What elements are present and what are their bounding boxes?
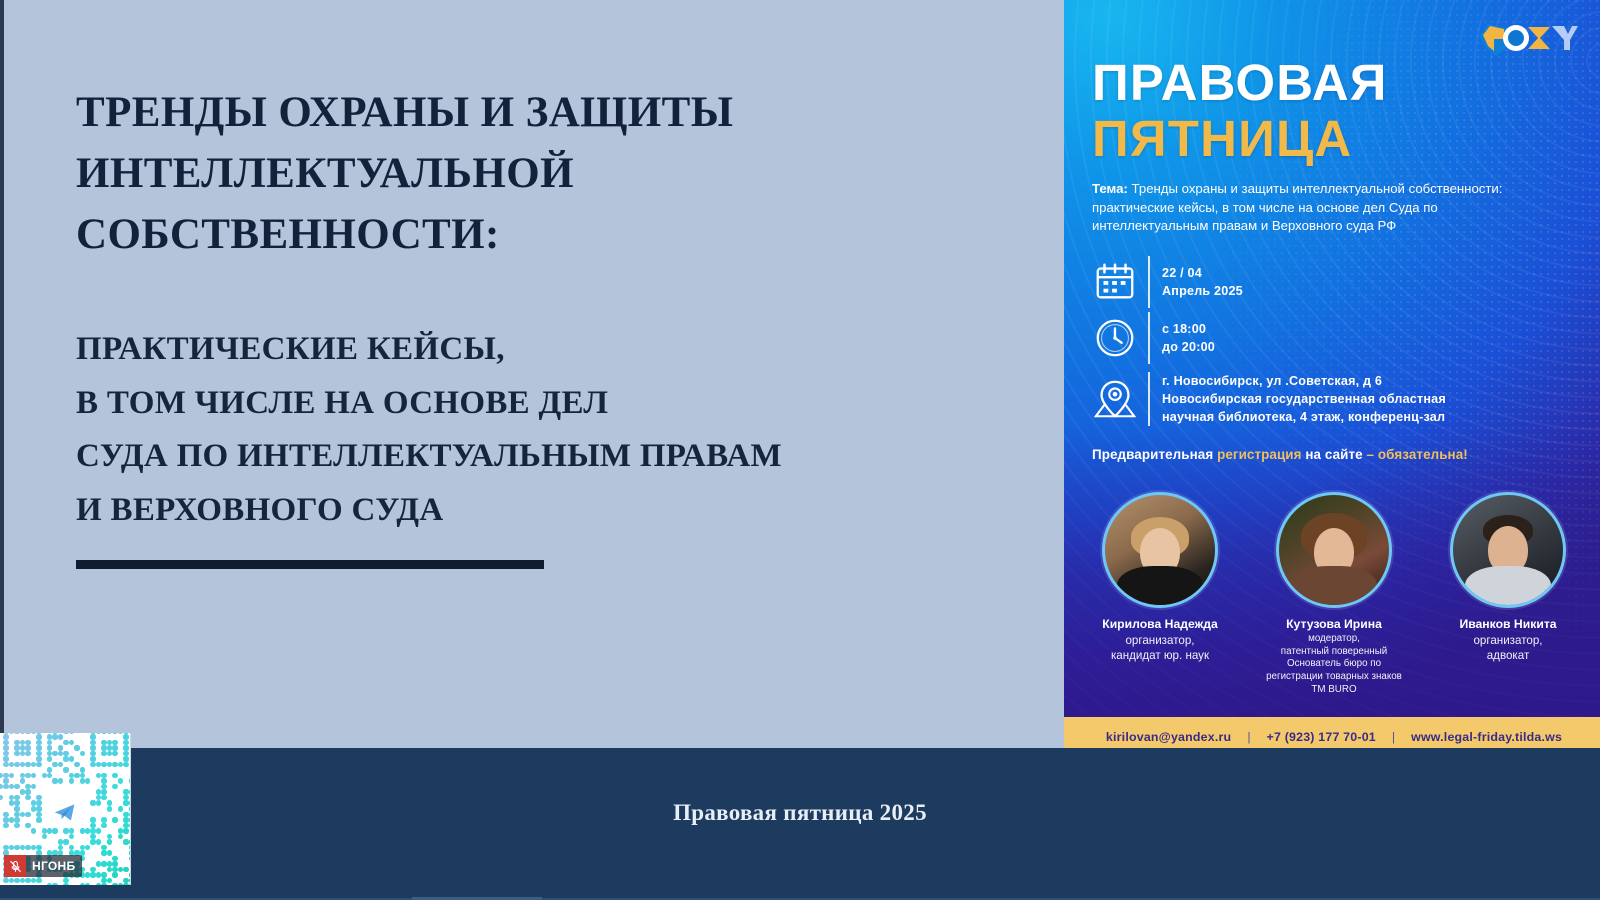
poster-place-line-2: Новосибирская государственная областная xyxy=(1162,390,1446,408)
poster-time-line-2: до 20:00 xyxy=(1162,338,1215,356)
poster-registration-note: Предварительная регистрация на сайте – о… xyxy=(1092,447,1468,462)
speaker-role-line: организатор, xyxy=(1428,633,1588,648)
poster-info-time: с 18:00 до 20:00 xyxy=(1092,312,1215,364)
poster-info-date: 22 / 04 Апрель 2025 xyxy=(1092,256,1243,308)
speaker-role-line: патентный поверенный xyxy=(1254,646,1414,659)
registration-accent-2: – обязательна! xyxy=(1367,447,1468,462)
participant-video-tile[interactable]: НГОНБ xyxy=(0,733,131,885)
poster-contact-email: kirilovan@yandex.ru xyxy=(1106,730,1231,744)
avatar-torso xyxy=(1117,566,1203,608)
participant-name-label: НГОНБ xyxy=(26,859,82,873)
speaker-card: Кирилова Надежда организатор, кандидат ю… xyxy=(1080,492,1240,697)
poster-speakers: Кирилова Надежда организатор, кандидат ю… xyxy=(1080,492,1588,697)
speaker-role-line: модератор, xyxy=(1254,633,1414,646)
slide-title-line-2: ИНТЕЛЛЕКТУАЛЬНОЙ xyxy=(76,143,1006,204)
microphone-muted-icon[interactable] xyxy=(4,855,26,877)
speaker-avatar xyxy=(1450,492,1566,608)
poster-place-line-3: научная библиотека, 4 этаж, конференц-за… xyxy=(1162,408,1446,426)
slide-subtitle-line-1: ПРАКТИЧЕСКИЕ КЕЙСЫ, xyxy=(76,323,1006,376)
slide-subtitle-block: ПРАКТИЧЕСКИЕ КЕЙСЫ, В ТОМ ЧИСЛЕ НА ОСНОВ… xyxy=(76,323,1006,537)
speaker-name: Кутузова Ирина xyxy=(1254,617,1414,631)
poster-place-line-1: г. Новосибирск, ул .Советская, д 6 xyxy=(1162,372,1446,390)
speaker-card: Иванков Никита организатор, адвокат xyxy=(1428,492,1588,697)
poster-contact-phone: +7 (923) 177 70-01 xyxy=(1267,730,1376,744)
speaker-card: Кутузова Ирина модератор, патентный пове… xyxy=(1254,492,1414,697)
info-divider xyxy=(1148,372,1150,426)
slide-title-block: ТРЕНДЫ ОХРАНЫ И ЗАЩИТЫ ИНТЕЛЛЕКТУАЛЬНОЙ … xyxy=(76,82,1006,537)
poster-place-text: г. Новосибирск, ул .Советская, д 6 Новос… xyxy=(1162,372,1446,427)
info-divider xyxy=(1148,312,1150,364)
speaker-name: Кирилова Надежда xyxy=(1080,617,1240,631)
map-pin-icon xyxy=(1092,376,1138,422)
microphone-muted-glyph xyxy=(8,859,23,874)
poster-contact-divider: | xyxy=(1247,730,1250,744)
speaker-role-line: Основатель бюро по xyxy=(1254,658,1414,671)
clock-icon xyxy=(1092,315,1138,361)
registration-part-2: на сайте xyxy=(1302,447,1367,462)
info-divider xyxy=(1148,256,1150,308)
telegram-plane-icon xyxy=(48,795,82,829)
poster-topic-text: Тренды охраны и защиты интеллектуальной … xyxy=(1092,181,1502,233)
poster-contact-divider: | xyxy=(1392,730,1395,744)
poster-date-line-1: 22 / 04 xyxy=(1162,264,1243,282)
speaker-role: организатор, адвокат xyxy=(1428,633,1588,663)
slide-subtitle-line-3: СУДА ПО ИНТЕЛЛЕКТУАЛЬНЫМ ПРАВАМ xyxy=(76,430,1006,483)
poster-contact-bar: kirilovan@yandex.ru | +7 (923) 177 70-01… xyxy=(1064,717,1600,748)
speaker-role-line: регистрации товарных знаков xyxy=(1254,671,1414,684)
speaker-avatar xyxy=(1102,492,1218,608)
speaker-role-line: адвокат xyxy=(1428,648,1588,663)
meeting-title-caption: Правовая пятница 2025 xyxy=(0,800,1600,826)
speaker-role-line: организатор, xyxy=(1080,633,1240,648)
slide-title-line-1: ТРЕНДЫ ОХРАНЫ И ЗАЩИТЫ xyxy=(76,82,1006,143)
avatar-torso xyxy=(1291,566,1377,608)
poster-time-text: с 18:00 до 20:00 xyxy=(1162,320,1215,357)
poster-contact-website: www.legal-friday.tilda.ws xyxy=(1411,730,1562,744)
speaker-avatar xyxy=(1276,492,1392,608)
poster-time-line-1: с 18:00 xyxy=(1162,320,1215,338)
title-underline-rule xyxy=(76,560,544,569)
participant-status-badge: НГОНБ xyxy=(4,855,82,877)
speaker-role: модератор, патентный поверенный Основате… xyxy=(1254,633,1414,697)
poster-info-place: г. Новосибирск, ул .Советская, д 6 Новос… xyxy=(1092,372,1446,426)
nsuem-logo-icon xyxy=(1472,18,1580,58)
poster-date-line-2: Апрель 2025 xyxy=(1162,282,1243,300)
speaker-role-line: кандидат юр. наук xyxy=(1080,648,1240,663)
slide-title-line-3: СОБСТВЕННОСТИ: xyxy=(76,204,1006,265)
shared-slide: ТРЕНДЫ ОХРАНЫ И ЗАЩИТЫ ИНТЕЛЛЕКТУАЛЬНОЙ … xyxy=(0,0,1600,748)
speaker-name: Иванков Никита xyxy=(1428,617,1588,631)
speaker-role: организатор, кандидат юр. наук xyxy=(1080,633,1240,663)
poster-topic: Тема: Тренды охраны и защиты интеллектуа… xyxy=(1092,180,1522,236)
slide-subtitle-line-2: В ТОМ ЧИСЛЕ НА ОСНОВЕ ДЕЛ xyxy=(76,377,1006,430)
poster-heading-line-2: ПЯТНИЦА xyxy=(1092,112,1352,165)
speaker-role-line: TM BURO xyxy=(1254,684,1414,697)
video-conference-screen: ТРЕНДЫ ОХРАНЫ И ЗАЩИТЫ ИНТЕЛЛЕКТУАЛЬНОЙ … xyxy=(0,0,1600,900)
registration-accent-1: регистрация xyxy=(1217,447,1301,462)
slide-subtitle-line-4: И ВЕРХОВНОГО СУДА xyxy=(76,484,1006,537)
calendar-icon xyxy=(1092,259,1138,305)
registration-part-1: Предварительная xyxy=(1092,447,1217,462)
conference-bottom-bar: Правовая пятница 2025 xyxy=(0,748,1600,900)
poster-heading-line-1: ПРАВОВАЯ xyxy=(1092,56,1388,109)
poster-date-text: 22 / 04 Апрель 2025 xyxy=(1162,264,1243,301)
avatar-torso xyxy=(1465,566,1551,608)
event-poster: ПРАВОВАЯ ПЯТНИЦА Тема: Тренды охраны и з… xyxy=(1064,0,1600,748)
poster-topic-label: Тема: xyxy=(1092,181,1128,196)
